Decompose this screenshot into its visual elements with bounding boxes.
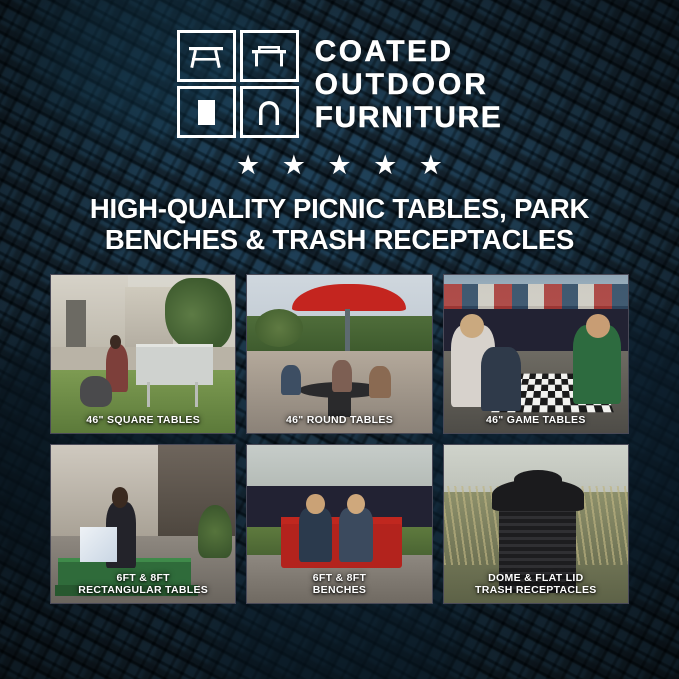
promo-banner: COATED OUTDOOR FURNITURE ★ ★ ★ ★ ★ HIGH-… [0,0,679,679]
headline-line-2: BENCHES & TRASH RECEPTACLES [50,224,629,255]
tile-caption: 6FT & 8FT RECTANGULAR TABLES [51,573,235,597]
brand-logo: COATED OUTDOOR FURNITURE [50,30,629,138]
tile-caption-line-2: TRASH RECEPTACLES [448,585,624,597]
tile-caption: 46" GAME TABLES [444,415,628,427]
category-tile-trash-receptacles[interactable]: DOME & FLAT LID TRASH RECEPTACLES [443,444,629,604]
picnic-table-icon [177,30,236,82]
tile-caption-line-1: 46" GAME TABLES [448,415,624,427]
tile-caption-line-2: RECTANGULAR TABLES [55,585,231,597]
star-rating: ★ ★ ★ ★ ★ [50,152,629,179]
product-category-grid: 46" SQUARE TABLES [50,274,629,604]
brand-name-line-2: OUTDOOR [315,69,503,101]
headline-line-1: HIGH-QUALITY PICNIC TABLES, PARK [50,193,629,224]
brand-name: COATED OUTDOOR FURNITURE [315,34,503,134]
category-tile-rectangular-tables[interactable]: 6FT & 8FT RECTANGULAR TABLES [50,444,236,604]
category-tile-square-tables[interactable]: 46" SQUARE TABLES [50,274,236,434]
category-tile-round-tables[interactable]: 46" ROUND TABLES [246,274,432,434]
headline: HIGH-QUALITY PICNIC TABLES, PARK BENCHES… [50,193,629,256]
logo-icon-grid [177,30,299,138]
tile-caption: 46" SQUARE TABLES [51,415,235,427]
trash-receptacle-icon [177,86,236,138]
tile-caption-line-1: 46" ROUND TABLES [251,415,427,427]
photo-square-tables [51,275,235,433]
tile-caption-line-2: BENCHES [251,585,427,597]
category-tile-benches[interactable]: 6FT & 8FT BENCHES [246,444,432,604]
tile-caption-line-1: 46" SQUARE TABLES [55,415,231,427]
photo-game-tables [444,275,628,433]
category-tile-game-tables[interactable]: 46" GAME TABLES [443,274,629,434]
arch-icon [240,86,299,138]
park-bench-icon [240,30,299,82]
brand-name-line-1: COATED [315,36,503,68]
tile-caption: 6FT & 8FT BENCHES [247,573,431,597]
brand-name-line-3: FURNITURE [315,102,503,134]
photo-round-tables [247,275,431,433]
tile-caption: DOME & FLAT LID TRASH RECEPTACLES [444,573,628,597]
banner-content: COATED OUTDOOR FURNITURE ★ ★ ★ ★ ★ HIGH-… [0,0,679,679]
tile-caption: 46" ROUND TABLES [247,415,431,427]
